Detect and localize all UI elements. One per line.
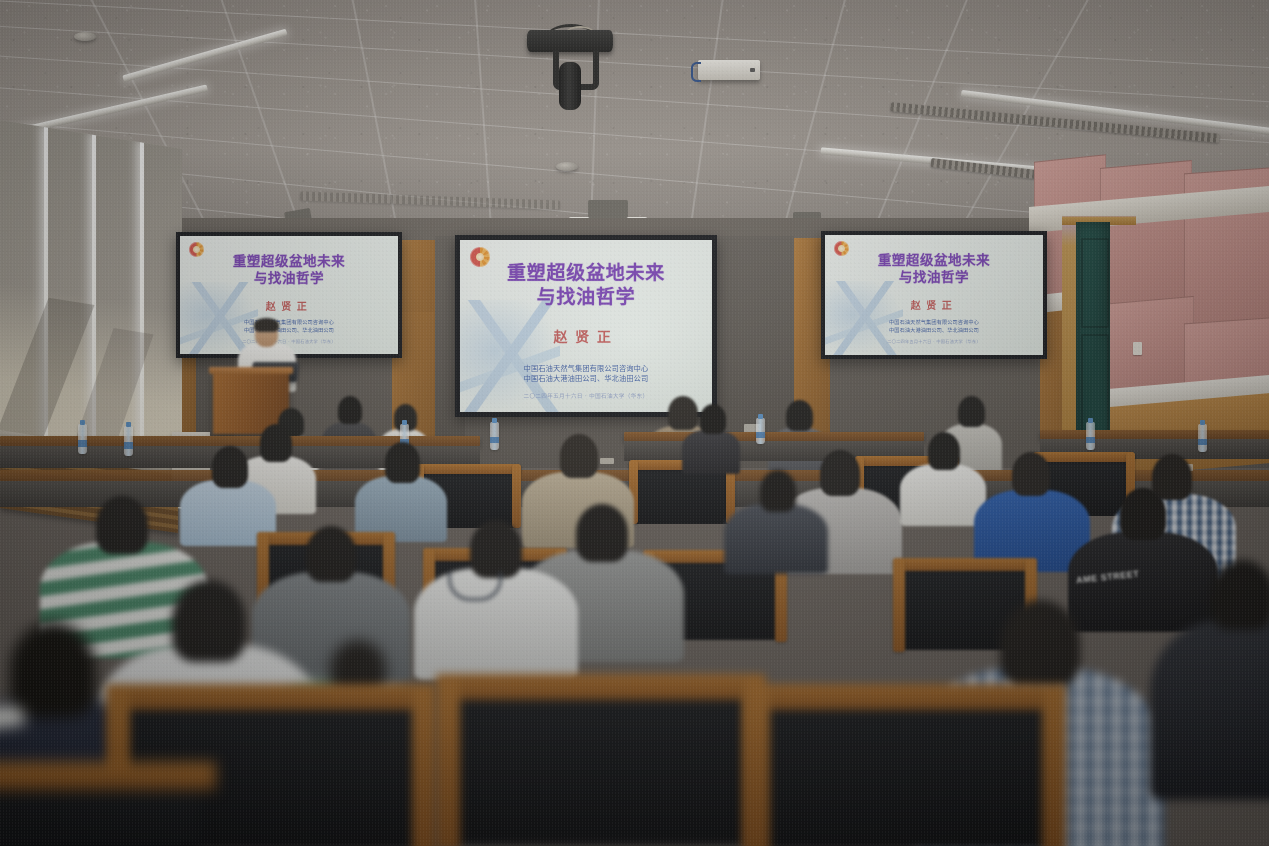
person-hair [385, 442, 420, 483]
chair-wood-frame [415, 464, 521, 474]
person-hair [212, 446, 248, 488]
slide-presenter-name: 赵贤正 [460, 327, 712, 347]
water-bottle [1086, 422, 1095, 450]
slide-org-line2: 中国石油大港油田公司、华北油田公司 [460, 374, 712, 384]
slide-title-left: 重塑超级盆地未来 与找油哲学 [180, 253, 398, 288]
podium-top-surface [209, 367, 293, 374]
person-torso [682, 430, 740, 474]
projection-screen-left: 重塑超级盆地未来 与找油哲学 赵贤正 中国石油天然气集团有限公司咨询中心 中国石… [180, 236, 398, 354]
chair-backrest [760, 700, 1050, 846]
chair-wood-frame [412, 684, 436, 846]
projection-screen-right: 重塑超级盆地未来 与找油哲学 赵贤正 中国石油天然气集团有限公司咨询中心 中国石… [825, 235, 1043, 355]
person-hair [576, 504, 628, 562]
person-hair [1152, 454, 1192, 500]
camera-lens [559, 62, 581, 110]
theater-chair[interactable] [0, 780, 200, 846]
lecture-hall-photo: 重塑超级盆地未来 与找油哲学 赵贤正 中国石油天然气集团有限公司咨询中心 中国石… [0, 0, 1269, 846]
desk-row [624, 432, 924, 441]
person-hair [10, 622, 96, 718]
chair-backrest [634, 466, 730, 524]
chair-wood-frame [106, 684, 436, 710]
person-hair [760, 470, 796, 512]
slide-title-right: 重塑超级盆地未来 与找油哲学 [825, 252, 1043, 287]
eyeglasses-icon [257, 331, 276, 337]
person-hair [958, 396, 985, 427]
slide-title-line1: 重塑超级盆地未来 [460, 262, 712, 286]
projection-screen-right-frame: 重塑超级盆地未来 与找油哲学 赵贤正 中国石油天然气集团有限公司咨询中心 中国石… [821, 231, 1047, 359]
slide-org-line1: 中国石油天然气集团有限公司咨询中心 [180, 320, 398, 328]
slide-date-line: 二〇二四年五月十六日 · 中国石油大学（华东） [180, 339, 398, 345]
smoke-detector [556, 162, 578, 171]
projector-center-mount [588, 200, 628, 218]
chair-wood-frame [1042, 684, 1066, 846]
chair-wood-frame [0, 762, 216, 790]
light-switch[interactable] [1133, 342, 1142, 355]
person-hair [668, 396, 698, 430]
person-hair [1120, 488, 1166, 540]
camera-mount-plate [527, 30, 613, 52]
access-point-led [750, 68, 755, 72]
slide-date-line: 二〇二四年五月十六日 · 中国石油大学（华东） [825, 339, 1043, 345]
water-bottle [1198, 424, 1207, 452]
slide-title-line2: 与找油哲学 [825, 269, 1043, 286]
person-hair [470, 520, 522, 578]
slide-organization: 中国石油天然气集团有限公司咨询中心 中国石油大港油田公司、华北油田公司 [825, 320, 1043, 335]
presenter-hair [254, 318, 279, 331]
slide-org-line1: 中国石油天然气集团有限公司咨询中心 [460, 364, 712, 374]
theater-chair[interactable] [760, 700, 1050, 846]
ceiling-ptz-camera [527, 24, 613, 114]
person-hair [928, 432, 960, 470]
chair-wood-frame [1033, 452, 1135, 462]
theater-chair[interactable] [450, 690, 750, 846]
front-wall-gray-panel [716, 236, 794, 441]
slide-presenter-name: 赵贤正 [825, 297, 1043, 312]
person-torso [900, 464, 986, 526]
water-bottle [756, 418, 765, 444]
chair-wood-frame [512, 464, 521, 528]
person-hair [700, 404, 726, 434]
seat-number-plate [600, 458, 614, 464]
theater-chair[interactable] [634, 466, 730, 524]
person-hair [820, 450, 860, 496]
chair-wood-frame [893, 558, 905, 652]
smoke-detector [74, 32, 96, 41]
chair-backrest [450, 690, 750, 846]
chair-wood-frame [746, 684, 770, 846]
ceiling-wireless-access-point [698, 60, 760, 80]
chair-wood-frame [893, 558, 1037, 571]
person-hair [560, 434, 598, 478]
door-panel [1081, 238, 1109, 328]
projection-screen-center: 重塑超级盆地未来 与找油哲学 赵贤正 中国石油天然气集团有限公司咨询中心 中国石… [460, 240, 712, 412]
slide-title-line2: 与找油哲学 [180, 270, 398, 287]
projection-screen-center-frame: 重塑超级盆地未来 与找油哲学 赵贤正 中国石油天然气集团有限公司咨询中心 中国石… [455, 235, 717, 417]
slide-org-line2: 中国石油大港油田公司、华北油田公司 [825, 328, 1043, 336]
person-torso [1150, 620, 1269, 800]
person-hair [1210, 560, 1269, 630]
chair-wood-frame [436, 674, 460, 846]
slide-organization: 中国石油天然气集团有限公司咨询中心 中国石油大港油田公司、华北油田公司 [460, 364, 712, 385]
person-hair [260, 424, 292, 462]
person-hair [338, 396, 362, 424]
slide-title-center: 重塑超级盆地未来 与找油哲学 [460, 262, 712, 311]
person-hair [786, 400, 813, 431]
slide-organization: 中国石油天然气集团有限公司咨询中心 中国石油大港油田公司、华北油田公司 [180, 320, 398, 335]
person-hair [1012, 452, 1050, 496]
slide-title-line2: 与找油哲学 [460, 286, 712, 310]
slide-presenter-name: 赵贤正 [180, 298, 398, 313]
person-hair [306, 526, 356, 582]
slide-title-line1: 重塑超级盆地未来 [180, 253, 398, 270]
person-hair [1000, 600, 1080, 688]
slide-org-line1: 中国石油天然气集团有限公司咨询中心 [825, 320, 1043, 328]
slide-org-line2: 中国石油大港油田公司、华北油田公司 [180, 328, 398, 336]
water-bottle [490, 422, 499, 450]
water-bottle [124, 426, 133, 456]
access-point-bracket [691, 62, 701, 82]
chair-wood-frame [436, 674, 766, 700]
person-hair [96, 496, 148, 554]
desk-row [1040, 430, 1269, 439]
water-bottle [78, 424, 87, 454]
slide-title-line1: 重塑超级盆地未来 [825, 252, 1043, 269]
chair-wood-frame [746, 684, 1066, 710]
person-hair [172, 580, 246, 662]
projection-screen-left-frame: 重塑超级盆地未来 与找油哲学 赵贤正 中国石油天然气集团有限公司咨询中心 中国石… [176, 232, 402, 358]
person-torso [724, 504, 828, 574]
